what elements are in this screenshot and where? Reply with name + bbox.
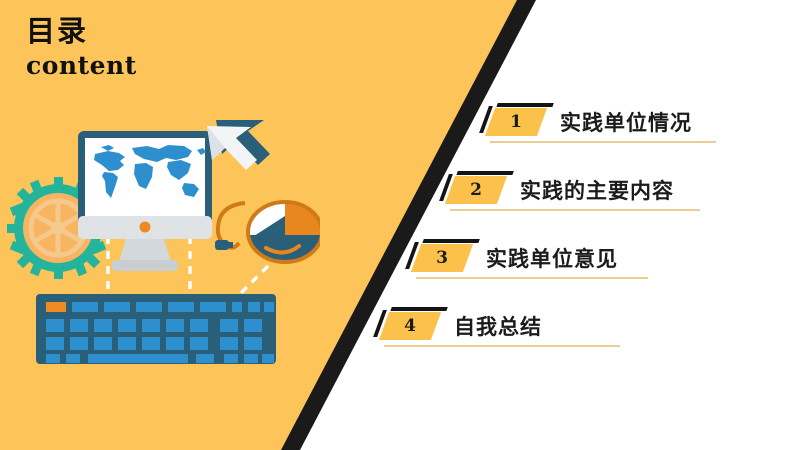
menu-item-3-label: 实践单位意见: [486, 240, 618, 276]
menu-item-1-rule: [490, 141, 716, 143]
menu-item-4-number: 4: [384, 312, 436, 340]
menu-item-3-rule: [416, 277, 648, 279]
menu-item-4-label: 自我总结: [454, 308, 542, 344]
computer-mouse-icon: [215, 202, 320, 262]
menu-item-1-label: 实践单位情况: [560, 104, 692, 140]
computer-workstation-illustration: [0, 88, 320, 388]
menu-item-2-label: 实践的主要内容: [520, 172, 674, 208]
keyboard-icon: [36, 294, 276, 364]
cursor-arrow-icon: [207, 120, 270, 170]
page-title: 目录 content: [26, 14, 137, 81]
menu-item-3-number: 3: [416, 244, 468, 272]
menu-item-1-number: 1: [490, 108, 542, 136]
title-chinese: 目录: [26, 14, 137, 49]
content-menu: 1 实践单位情况 2 实践的主要内容 3 实践单位意见 4 自我总结: [380, 0, 800, 450]
menu-item-2-number: 2: [450, 176, 502, 204]
menu-item-2-rule: [450, 209, 700, 211]
title-english: content: [26, 51, 137, 81]
slide-canvas: 目录 content: [0, 0, 800, 450]
menu-item-4-rule: [384, 345, 620, 347]
